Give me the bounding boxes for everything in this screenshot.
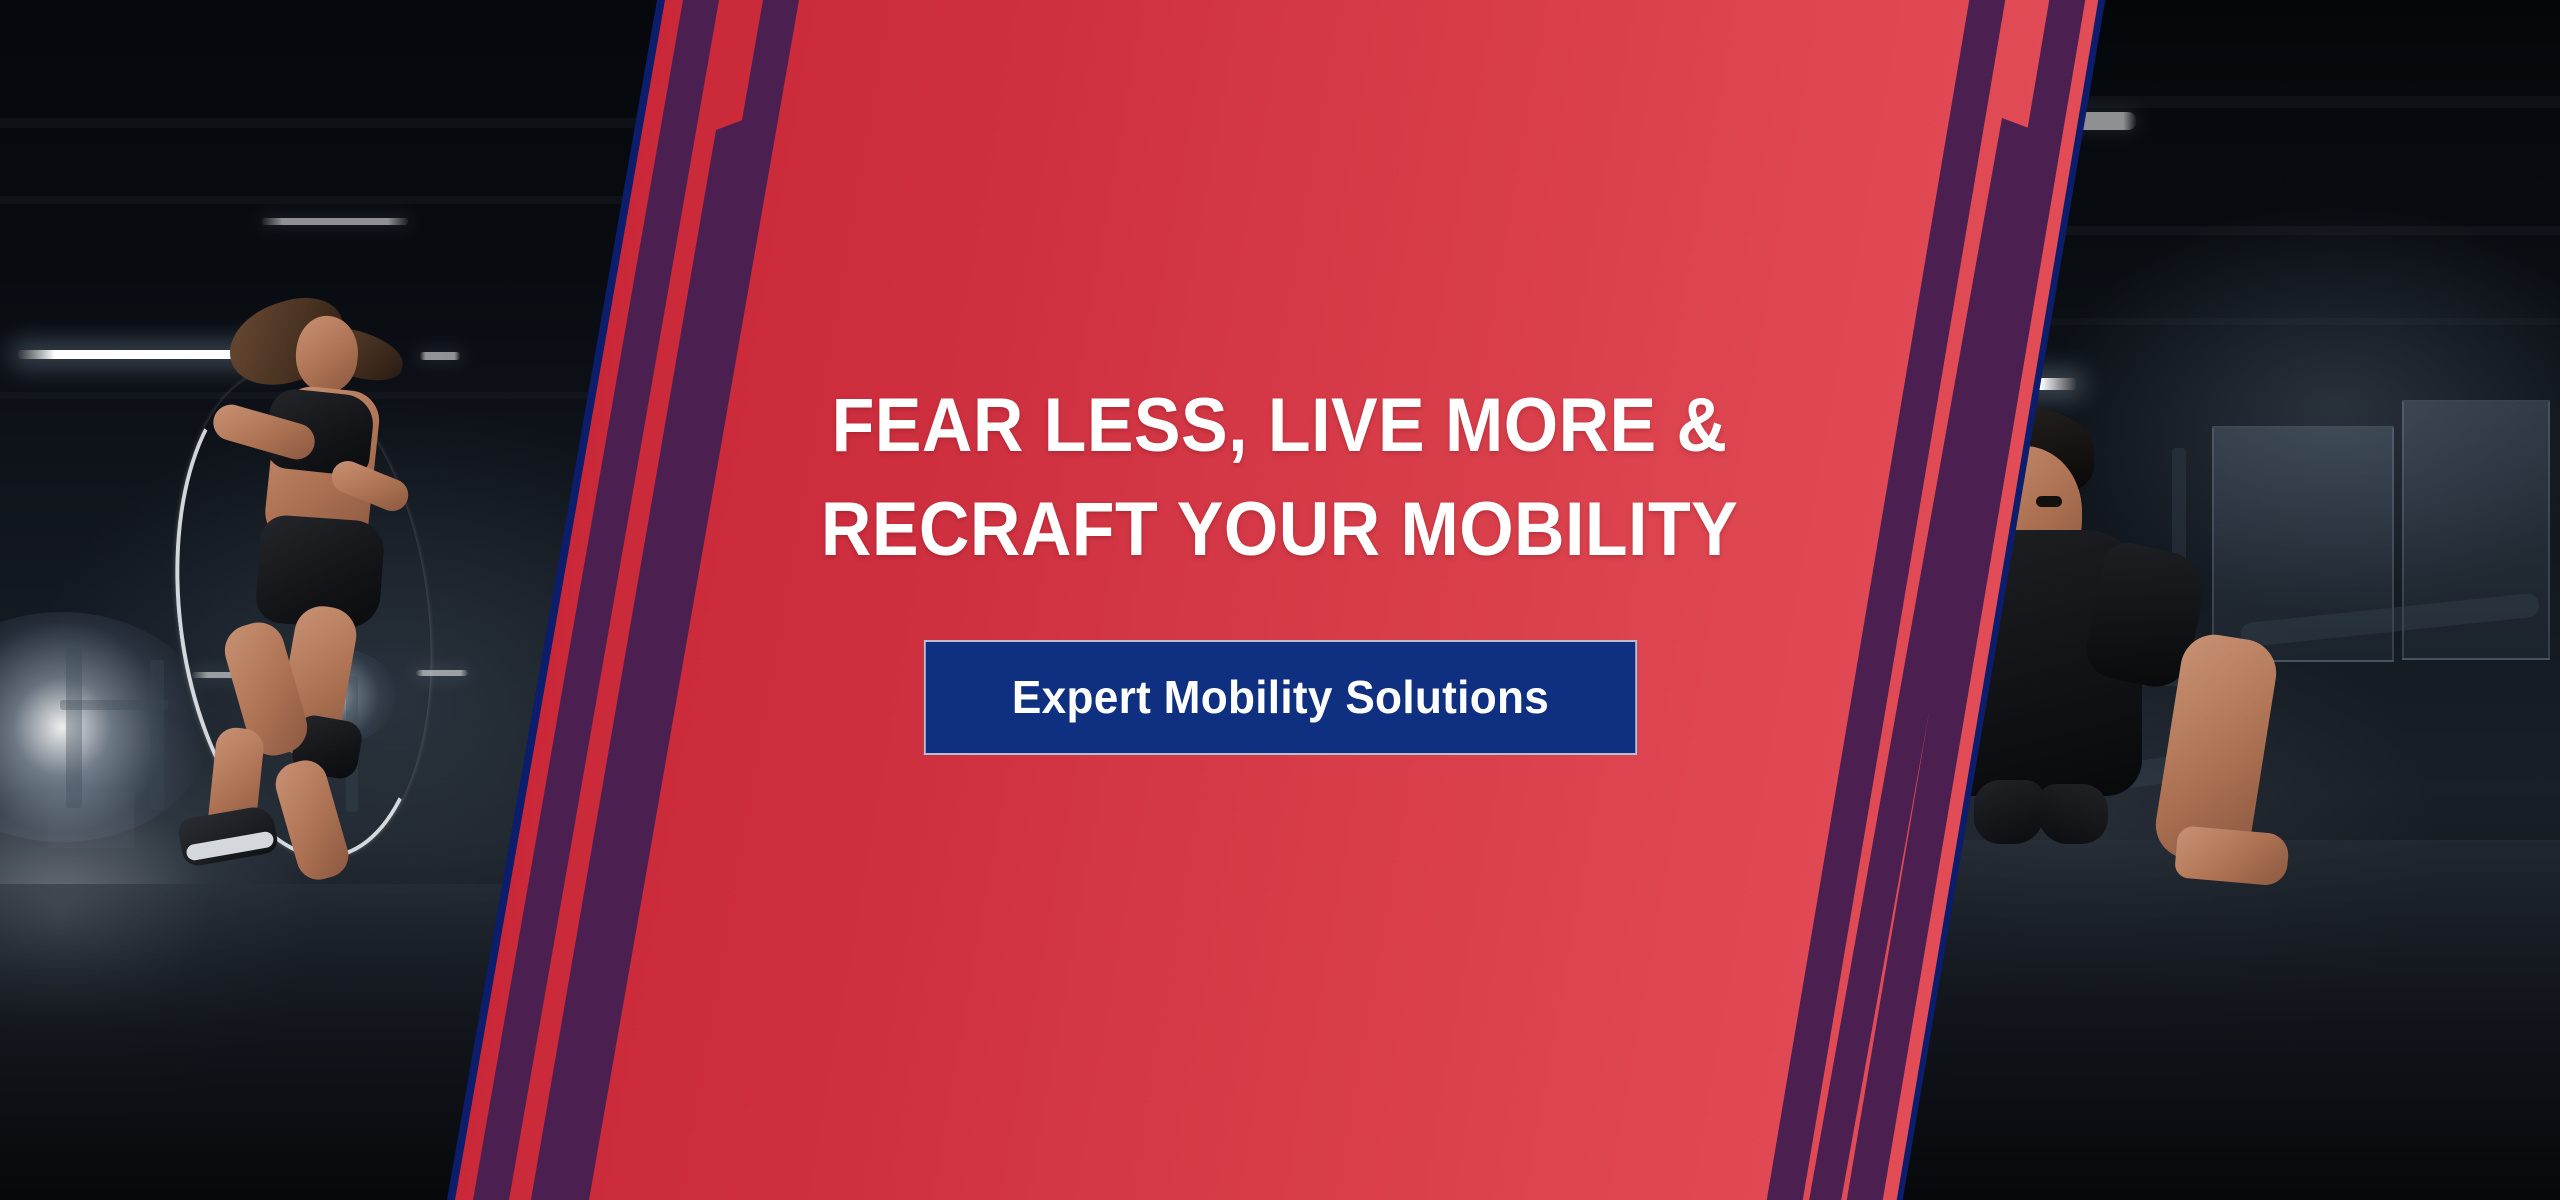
page-title: FEAR LESS, LIVE MORE & RECRAFT YOUR MOBI… [821,374,1738,582]
headline-line-1: FEAR LESS, LIVE MORE & [821,374,1738,478]
hero-banner: FEAR LESS, LIVE MORE & RECRAFT YOUR MOBI… [0,0,2560,1200]
expert-mobility-solutions-button[interactable]: Expert Mobility Solutions [923,640,1636,755]
hero-content: FEAR LESS, LIVE MORE & RECRAFT YOUR MOBI… [0,0,2560,1200]
headline-line-2: RECRAFT YOUR MOBILITY [821,478,1738,582]
